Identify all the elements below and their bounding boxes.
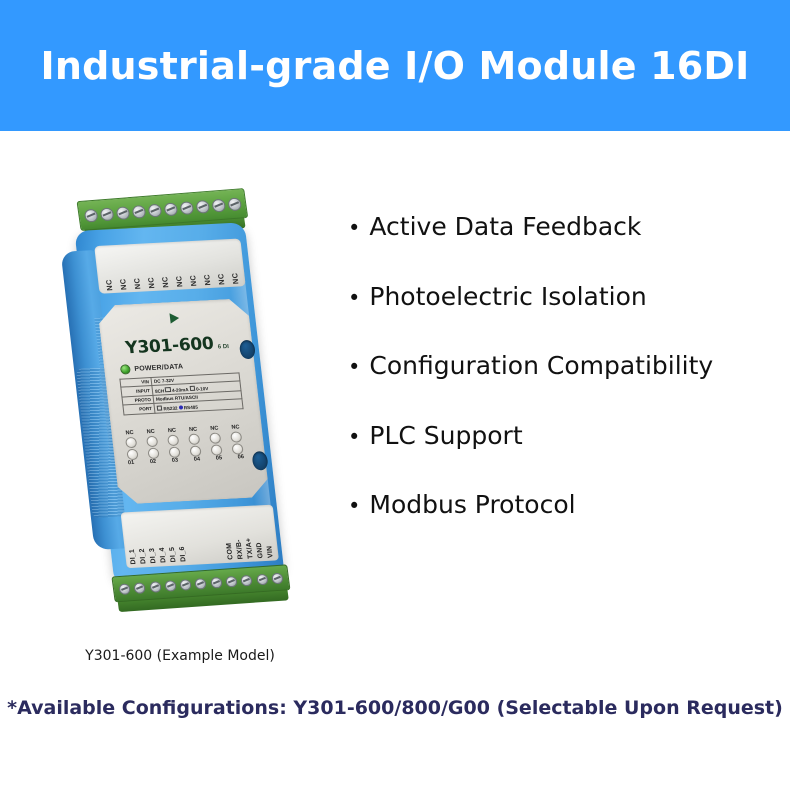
terminal-screw: [134, 582, 146, 594]
terminal-screw: [271, 572, 283, 584]
terminal-screw: [163, 202, 178, 216]
io-label-com: COM: [226, 543, 235, 560]
terminal-screw: [195, 577, 207, 589]
terminal-screw: [195, 199, 210, 213]
led-number: 01: [128, 460, 135, 466]
led-label: NC: [168, 428, 177, 434]
nc-label: NC: [216, 273, 226, 285]
bullet-icon: •: [348, 288, 360, 309]
main-content: NC NC NC NC NC NC NC NC NC NC ⯈ Y301-600: [0, 131, 790, 800]
led-number: 06: [237, 454, 244, 460]
model-channel-count: 6 DI: [218, 344, 230, 351]
terminal-screw: [225, 575, 237, 587]
terminal-screw: [149, 581, 161, 593]
power-data-label: POWER/DATA: [134, 363, 184, 373]
led-label: NC: [231, 424, 240, 430]
led-indicator: [210, 444, 222, 456]
led-number: 04: [194, 456, 201, 462]
nc-label: NC: [118, 278, 128, 290]
io-label-di3: DI_3: [149, 548, 158, 564]
io-label-tx: TX/A+: [245, 538, 254, 559]
checkbox-icon: [165, 387, 171, 393]
led-indicator: [189, 445, 201, 457]
led-indicator: [168, 447, 180, 459]
nc-label: NC: [103, 279, 113, 291]
product-caption: Y301-600 (Example Model): [30, 648, 330, 664]
feature-list: • Active Data Feedback • Photoelectric I…: [348, 213, 768, 561]
top-nc-label-strip: NC NC NC NC NC NC NC NC NC NC: [94, 238, 246, 293]
terminal-screw: [240, 574, 252, 586]
feature-item-photoelectric-isolation: • Photoelectric Isolation: [348, 283, 768, 311]
nc-label: NC: [188, 274, 198, 286]
terminal-screw: [210, 576, 222, 588]
product-photo: NC NC NC NC NC NC NC NC NC NC ⯈ Y301-600: [30, 156, 330, 646]
port-option-rs232: RS232: [157, 405, 178, 411]
io-label-di1: DI_1: [129, 549, 138, 565]
feature-label: PLC Support: [369, 422, 522, 450]
header-banner: Industrial-grade I/O Module 16DI: [0, 0, 790, 131]
led-indicator: [126, 449, 138, 461]
terminal-screw: [115, 206, 130, 220]
terminal-screw: [179, 579, 191, 591]
feature-item-configuration-compatibility: • Configuration Compatibility: [348, 352, 768, 380]
led-indicator-bank: NC NC NC NC NC NC: [123, 424, 245, 466]
input-channels: 8CH: [155, 388, 165, 393]
terminal-screw: [131, 204, 146, 218]
io-module-device: NC NC NC NC NC NC NC NC NC NC ⯈ Y301-600: [55, 190, 288, 607]
io-input-labels: DI_1 DI_2 DI_3 DI_4 DI_5 DI_6: [129, 547, 188, 565]
terminal-screw: [211, 198, 226, 212]
feature-item-modbus-protocol: • Modbus Protocol: [348, 491, 768, 519]
io-label-di5: DI_5: [169, 547, 178, 563]
led-label: NC: [210, 426, 219, 432]
io-label-di2: DI_2: [139, 549, 148, 565]
checkbox-icon: [189, 385, 195, 391]
led-number: 02: [150, 459, 157, 465]
io-label-di6: DI_6: [179, 547, 188, 563]
led-label: NC: [189, 427, 198, 433]
bullet-icon: •: [348, 218, 360, 239]
terminal-screw: [118, 583, 130, 595]
feature-label: Active Data Feedback: [369, 213, 641, 241]
feature-label: Photoelectric Isolation: [369, 283, 646, 311]
terminal-screw: [147, 203, 162, 217]
nc-label: NC: [202, 274, 212, 286]
led-indicator: [188, 434, 200, 446]
io-label-di4: DI_4: [159, 548, 168, 564]
led-indicator: [230, 431, 242, 443]
bottom-io-label-strip: DI_1 DI_2 DI_3 DI_4 DI_5 DI_6 COM RX/B- …: [121, 505, 279, 569]
io-label-vin: VIN: [266, 545, 274, 558]
page-title: Industrial-grade I/O Module 16DI: [41, 44, 750, 88]
terminal-screw: [99, 207, 114, 221]
model-name: Y301-600: [124, 334, 214, 358]
radio-selected-icon: [179, 406, 183, 410]
terminal-screw: [83, 208, 98, 222]
feature-item-active-data-feedback: • Active Data Feedback: [348, 213, 768, 241]
spec-key: PORT: [123, 404, 155, 415]
spec-table: VIN DC 7-32V INPUT 8CH 4-20mA 0-10V: [119, 372, 243, 415]
checkbox-icon: [157, 405, 163, 411]
terminal-screw: [164, 580, 176, 592]
power-data-indicator: POWER/DATA: [120, 361, 184, 374]
model-row: Y301-600 6 DI: [101, 332, 253, 360]
led-indicator: [146, 436, 158, 448]
feature-item-plc-support: • PLC Support: [348, 422, 768, 450]
nc-label: NC: [146, 276, 156, 288]
power-led-icon: [120, 364, 131, 374]
led-indicator: [231, 443, 243, 455]
led-indicator: [167, 435, 179, 447]
footer-note: *Available Configurations: Y301-600/800/…: [0, 697, 790, 719]
terminal-screw: [227, 197, 242, 211]
bird-logo-icon: ⯈: [166, 312, 182, 330]
led-label: NC: [125, 430, 134, 436]
terminal-screw: [256, 573, 268, 585]
led-indicator: [209, 432, 221, 444]
terminal-screw: [179, 201, 194, 215]
io-label-rx: RX/B-: [235, 539, 244, 559]
device-faceplate: ⯈ Y301-600 6 DI POWER/DATA VIN DC 7-32V: [97, 298, 270, 505]
nc-label: NC: [174, 275, 184, 287]
port-option-rs485: RS485: [178, 404, 198, 410]
product-image-block: NC NC NC NC NC NC NC NC NC NC ⯈ Y301-600: [30, 156, 330, 686]
nc-label: NC: [160, 276, 170, 288]
led-indicator: [125, 437, 137, 449]
io-comm-labels: COM RX/B- TX/A+ GND VIN: [225, 537, 274, 560]
bullet-icon: •: [348, 357, 360, 378]
bullet-icon: •: [348, 496, 360, 517]
io-label-gnd: GND: [256, 542, 265, 558]
feature-label: Modbus Protocol: [369, 491, 575, 519]
input-option-1: 4-20mA: [165, 387, 188, 393]
led-label: NC: [146, 429, 155, 435]
feature-label: Configuration Compatibility: [369, 352, 713, 380]
bullet-icon: •: [348, 427, 360, 448]
led-number: 03: [172, 458, 179, 464]
input-option-2: 0-10V: [189, 386, 208, 392]
led-indicator: [147, 448, 159, 460]
nc-label: NC: [230, 272, 240, 284]
nc-label: NC: [132, 277, 142, 289]
led-number: 05: [216, 455, 223, 461]
